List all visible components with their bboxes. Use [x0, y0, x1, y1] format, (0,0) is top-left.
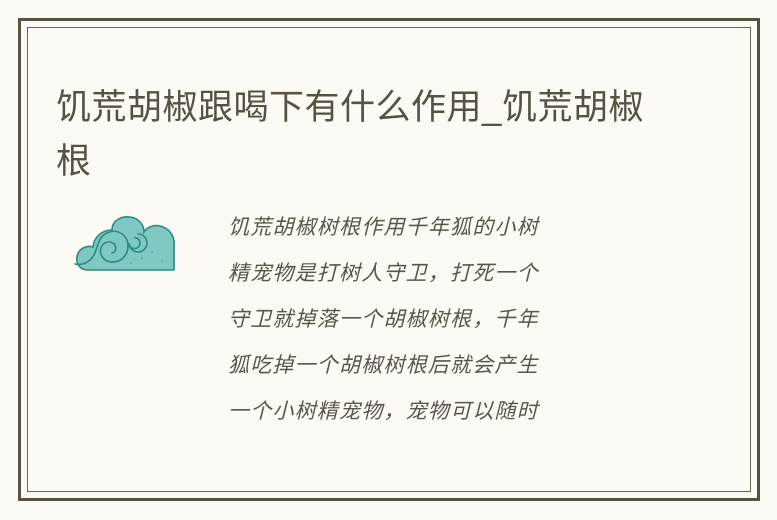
body-line: 精宠物是打树人守卫，打死一个: [228, 250, 646, 296]
body-line: 守卫就掉落一个胡椒树根，千年: [228, 296, 646, 342]
card-content: 饥荒胡椒跟喝下有什么作用_饥荒胡椒根 饥荒胡椒树根作用千年狐的小树 精宠物是打树…: [0, 0, 777, 520]
body-line: 饥荒胡椒树根作用千年狐的小树: [228, 204, 646, 250]
article-card: 饥荒胡椒跟喝下有什么作用_饥荒胡椒根 饥荒胡椒树根作用千年狐的小树 精宠物是打树…: [0, 0, 777, 520]
body-line: 狐吃掉一个胡椒树根后就会产生: [228, 342, 646, 388]
article-body: 饥荒胡椒树根作用千年狐的小树 精宠物是打树人守卫，打死一个 守卫就掉落一个胡椒树…: [228, 204, 646, 434]
auspicious-cloud-icon: [74, 214, 186, 276]
body-line: 一个小树精宠物，宠物可以随时: [228, 388, 646, 434]
page-title: 饥荒胡椒跟喝下有什么作用_饥荒胡椒根: [56, 81, 656, 189]
